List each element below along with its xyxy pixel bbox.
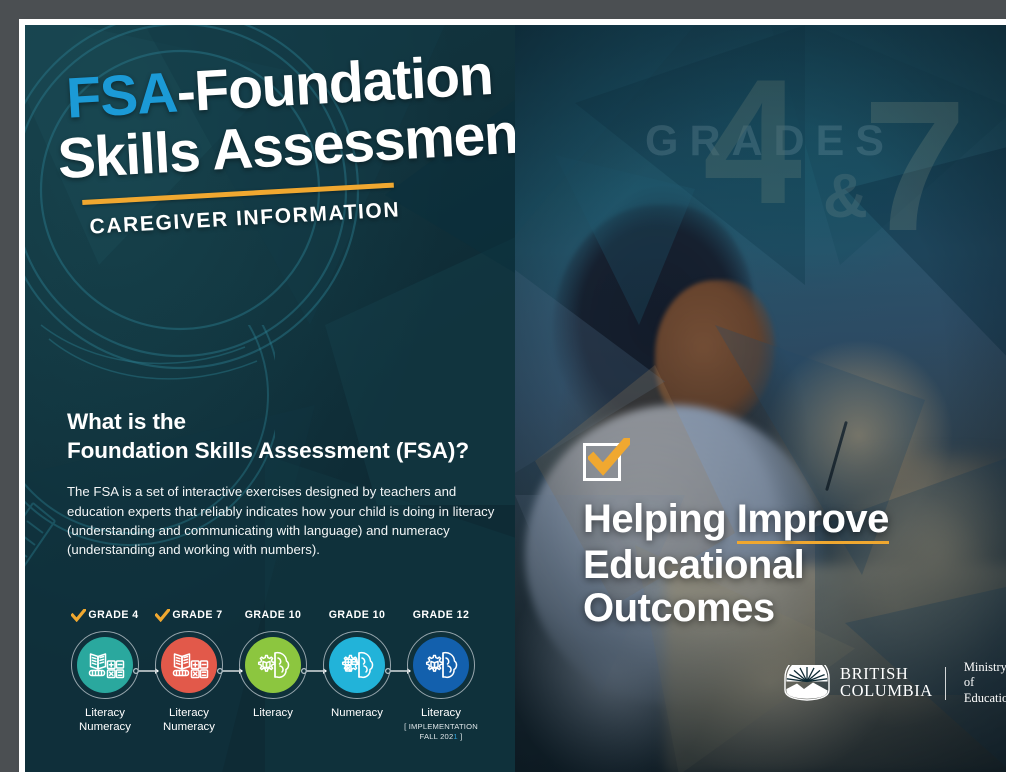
bc-wordmark-line-2: COLUMBIA xyxy=(840,683,933,700)
grade-disc[interactable] xyxy=(161,637,217,693)
grade-caption: Numeracy xyxy=(315,707,399,721)
title-accent-fsa: FSA xyxy=(65,61,179,131)
headline-line-2: Educational Outcomes xyxy=(583,543,804,629)
grade-caption: Literacy xyxy=(231,707,315,721)
page-bottom-margin xyxy=(0,772,1024,784)
left-panel: FSA-Foundation Skills Assessment CAREGIV… xyxy=(25,25,515,772)
grade-step-5[interactable]: GRADE 12 Literacy [ IMPLEMENTATION FALL … xyxy=(399,605,483,742)
grade-label: GRADE 10 xyxy=(245,609,302,621)
implementation-note: [ IMPLEMENTATION FALL 2021 ] xyxy=(399,722,483,743)
document-viewer: FSA-Foundation Skills Assessment CAREGIV… xyxy=(0,0,1024,784)
what-is-heading-line1: What is the xyxy=(67,409,186,434)
gear-brain-book-icon xyxy=(421,645,461,685)
bc-wordmark: BRITISH COLUMBIA xyxy=(840,666,933,700)
grade-disc[interactable] xyxy=(77,637,133,693)
grade-header: GRADE 10 xyxy=(315,605,399,625)
grade-caption-line: Numeracy xyxy=(63,721,147,735)
implementation-note-line-1: [ IMPLEMENTATION xyxy=(399,722,483,732)
headline-block: Helping ImproveEducational Outcomes xyxy=(583,443,993,629)
grade-label: GRADE 12 xyxy=(413,609,470,621)
orange-check-icon xyxy=(155,609,170,622)
orange-check-icon xyxy=(588,438,630,480)
ministry-line-1: Ministry of xyxy=(964,660,1006,691)
grade-caption-line: Numeracy xyxy=(315,707,399,721)
page-right-margin xyxy=(1006,0,1024,784)
grade-caption-line: Literacy xyxy=(231,707,315,721)
grade-header: GRADE 7 xyxy=(147,605,231,625)
grade-ring[interactable] xyxy=(323,631,391,699)
what-is-section: What is theFoundation Skills Assessment … xyxy=(67,408,497,560)
grade-caption: Literacy xyxy=(399,707,483,721)
headline-underlined-word: Improve xyxy=(737,498,889,544)
grade-label: GRADE 7 xyxy=(172,609,222,621)
grade-label: GRADE 10 xyxy=(329,609,386,621)
checkbox-outline xyxy=(583,443,621,481)
ministry-wordmark: Ministry of Education xyxy=(964,660,1006,707)
grade-caption-line: Numeracy xyxy=(147,721,231,735)
grade-disc[interactable] xyxy=(329,637,385,693)
grade-disc[interactable] xyxy=(413,637,469,693)
grade-checked-icon xyxy=(155,609,170,622)
gear-brain-book-icon xyxy=(253,645,293,685)
what-is-heading-line2: Foundation Skills Assessment (FSA)? xyxy=(67,438,469,463)
grade-header: GRADE 4 xyxy=(63,605,147,625)
grade-caption: LiteracyNumeracy xyxy=(147,707,231,735)
grade-checked-icon xyxy=(71,609,86,622)
grade-caption-line: Literacy xyxy=(63,707,147,721)
grade-caption-line: Literacy xyxy=(147,707,231,721)
book-and-math-icon xyxy=(169,645,209,685)
grade-caption: LiteracyNumeracy xyxy=(63,707,147,735)
grade-ring[interactable] xyxy=(407,631,475,699)
headline-text: Helping ImproveEducational Outcomes xyxy=(583,498,993,629)
implementation-note-year-digit: 1 xyxy=(453,732,457,741)
grade-disc[interactable] xyxy=(245,637,301,693)
grade-label: GRADE 4 xyxy=(88,609,138,621)
what-is-body: The FSA is a set of interactive exercise… xyxy=(67,482,497,560)
poster-page: FSA-Foundation Skills Assessment CAREGIV… xyxy=(25,25,1006,772)
grade-header: GRADE 12 xyxy=(399,605,483,625)
right-panel-photo: GRADES 4 & 7 Helping ImproveEducational … xyxy=(515,25,1006,772)
grade-ring[interactable] xyxy=(239,631,307,699)
bc-government-logo: BRITISH COLUMBIA Ministry of Education xyxy=(783,660,993,706)
headline-part-1: Helping xyxy=(583,497,737,541)
grade-ring[interactable] xyxy=(71,631,139,699)
poster-title-block: FSA-Foundation Skills Assessment CAREGIV… xyxy=(43,47,515,242)
book-and-math-icon xyxy=(85,645,125,685)
logo-divider xyxy=(945,667,946,700)
implementation-note-line-2: FALL 2021 ] xyxy=(399,732,483,742)
grade-header: GRADE 10 xyxy=(231,605,315,625)
grade-caption-line: Literacy xyxy=(399,707,483,721)
orange-check-icon xyxy=(71,609,86,622)
what-is-heading: What is theFoundation Skills Assessment … xyxy=(67,408,497,465)
ministry-line-2: Education xyxy=(964,691,1006,707)
gear-brain-math-icon xyxy=(337,645,377,685)
bc-sunburst-shield-icon xyxy=(783,665,831,701)
grade-ring[interactable] xyxy=(155,631,223,699)
grade-pipeline: GRADE 4 LiteracyNumeracy xyxy=(63,605,513,760)
